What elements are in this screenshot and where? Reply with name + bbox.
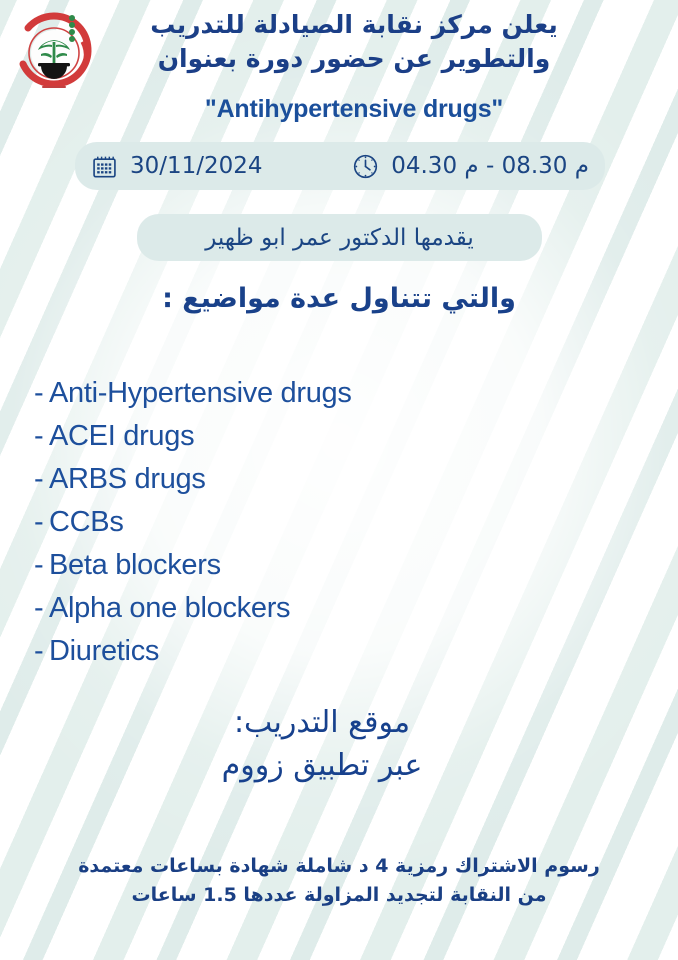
speaker-name: يقدمها الدكتور عمر ابو ظهير xyxy=(205,225,474,251)
list-item: -ARBS drugs xyxy=(34,458,594,501)
poster-canvas: يعلن مركز نقابة الصيادلة للتدريب والتطوي… xyxy=(0,0,678,960)
speaker-pill: يقدمها الدكتور عمر ابو ظهير xyxy=(137,214,542,261)
list-item-label: CCBs xyxy=(49,506,124,538)
clock-icon xyxy=(352,153,379,180)
fees-line-2: من النقابة لتجديد المزاولة عددها 1.5 ساع… xyxy=(30,881,648,910)
page-title: يعلن مركز نقابة الصيادلة للتدريب والتطوي… xyxy=(104,8,604,75)
calendar-icon xyxy=(91,153,118,180)
bullet-dash: - xyxy=(34,501,49,544)
time-value: م 08.30 - م 04.30 xyxy=(391,153,589,179)
bullet-dash: - xyxy=(34,415,49,458)
date-group: 30/11/2024 xyxy=(91,153,263,180)
list-item-label: Beta blockers xyxy=(49,549,221,581)
location-label: موقع التدريب: xyxy=(0,702,678,745)
bullet-dash: - xyxy=(34,587,49,630)
time-group: م 08.30 - م 04.30 xyxy=(352,153,589,180)
list-item: -Beta blockers xyxy=(34,544,594,587)
title-line-2: والتطوير عن حضور دورة بعنوان xyxy=(104,42,604,76)
date-value: 30/11/2024 xyxy=(130,153,263,179)
list-item-label: ACEI drugs xyxy=(49,420,194,452)
list-item-label: ARBS drugs xyxy=(49,463,206,495)
list-item: -CCBs xyxy=(34,501,594,544)
list-item-label: Diuretics xyxy=(49,635,159,667)
list-item-label: Anti-Hypertensive drugs xyxy=(49,377,352,409)
course-title: "Antihypertensive drugs" xyxy=(104,95,604,124)
location-value: عبر تطبيق زووم xyxy=(0,745,678,788)
fees-line-1: رسوم الاشتراك رمزية 4 د شاملة شهادة بساع… xyxy=(30,852,648,881)
list-item: -Diuretics xyxy=(34,630,594,673)
pharmacists-syndicate-logo xyxy=(8,6,100,102)
bullet-dash: - xyxy=(34,458,49,501)
list-item: -Alpha one blockers xyxy=(34,587,594,630)
bullet-dash: - xyxy=(34,544,49,587)
info-bar: م 08.30 - م 04.30 xyxy=(75,142,605,190)
title-line-1: يعلن مركز نقابة الصيادلة للتدريب xyxy=(104,8,604,42)
list-item-label: Alpha one blockers xyxy=(49,592,290,624)
list-item: -ACEI drugs xyxy=(34,415,594,458)
bullet-dash: - xyxy=(34,372,49,415)
poster-content: يعلن مركز نقابة الصيادلة للتدريب والتطوي… xyxy=(0,0,678,960)
bullet-dash: - xyxy=(34,630,49,673)
fees-note: رسوم الاشتراك رمزية 4 د شاملة شهادة بساع… xyxy=(30,852,648,910)
list-item: -Anti-Hypertensive drugs xyxy=(34,372,594,415)
topics-heading: والتي تتناول عدة مواضيع : xyxy=(0,283,678,314)
location-block: موقع التدريب: عبر تطبيق زووم xyxy=(0,702,678,787)
topics-list: -Anti-Hypertensive drugs -ACEI drugs -AR… xyxy=(34,372,594,673)
